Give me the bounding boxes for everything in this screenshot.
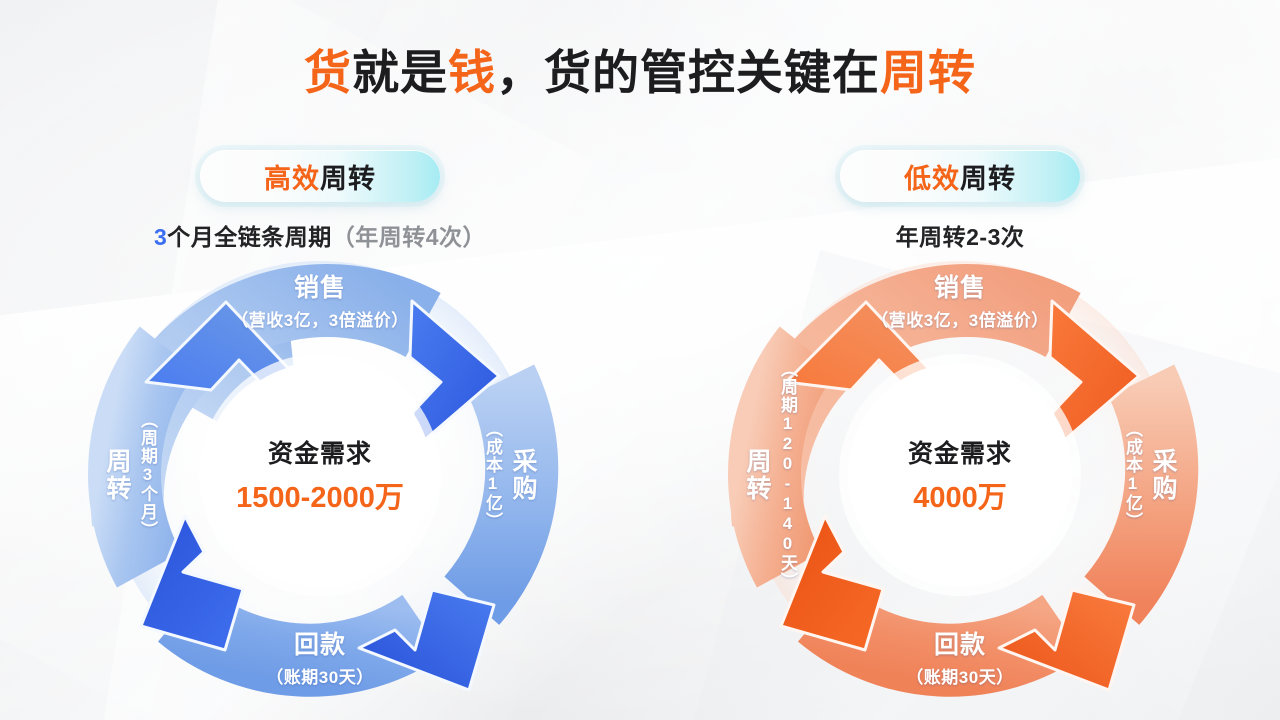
column-low-efficiency: 低效周转 年周转2-3次 — [640, 0, 1280, 720]
subtitle-main: 个月全链条周期 — [167, 224, 332, 250]
cycle-diagram-orange: 销售 （营收3亿，3倍溢价） （成本1亿） 采购 回款 （账期30天） 周转 （… — [745, 260, 1175, 690]
badge-rest-text: 周转 — [320, 157, 376, 196]
badge-low-efficiency[interactable]: 低效周转 — [840, 150, 1080, 202]
column-high-efficiency: 高效周转 3个月全链条周期（年周转4次） — [0, 0, 640, 720]
badge-rest-text: 周转 — [960, 157, 1016, 196]
hub-high-efficiency: 资金需求 1500-2000万 — [215, 434, 425, 516]
subtitle-low-efficiency: 年周转2-3次 — [640, 218, 1280, 252]
hub-key: 资金需求 — [215, 434, 425, 470]
subtitle-detail: （年周转4次） — [332, 224, 486, 250]
hub-value: 4000万 — [855, 474, 1065, 516]
subtitle-high-efficiency: 3个月全链条周期（年周转4次） — [0, 218, 640, 252]
subtitle-number: 3 — [154, 224, 167, 250]
cycle-diagram-blue: 销售 （营收3亿，3倍溢价） （成本1亿） 采购 回款 （账期30天） 周转 （… — [105, 260, 535, 690]
hub-key: 资金需求 — [855, 434, 1065, 470]
badge-highlight-text: 高效 — [264, 157, 320, 196]
badge-high-efficiency[interactable]: 高效周转 — [200, 150, 440, 202]
badge-highlight-text: 低效 — [904, 157, 960, 196]
hub-low-efficiency: 资金需求 4000万 — [855, 434, 1065, 516]
hub-value: 1500-2000万 — [215, 474, 425, 516]
subtitle-main: 年周转2-3次 — [896, 224, 1025, 250]
